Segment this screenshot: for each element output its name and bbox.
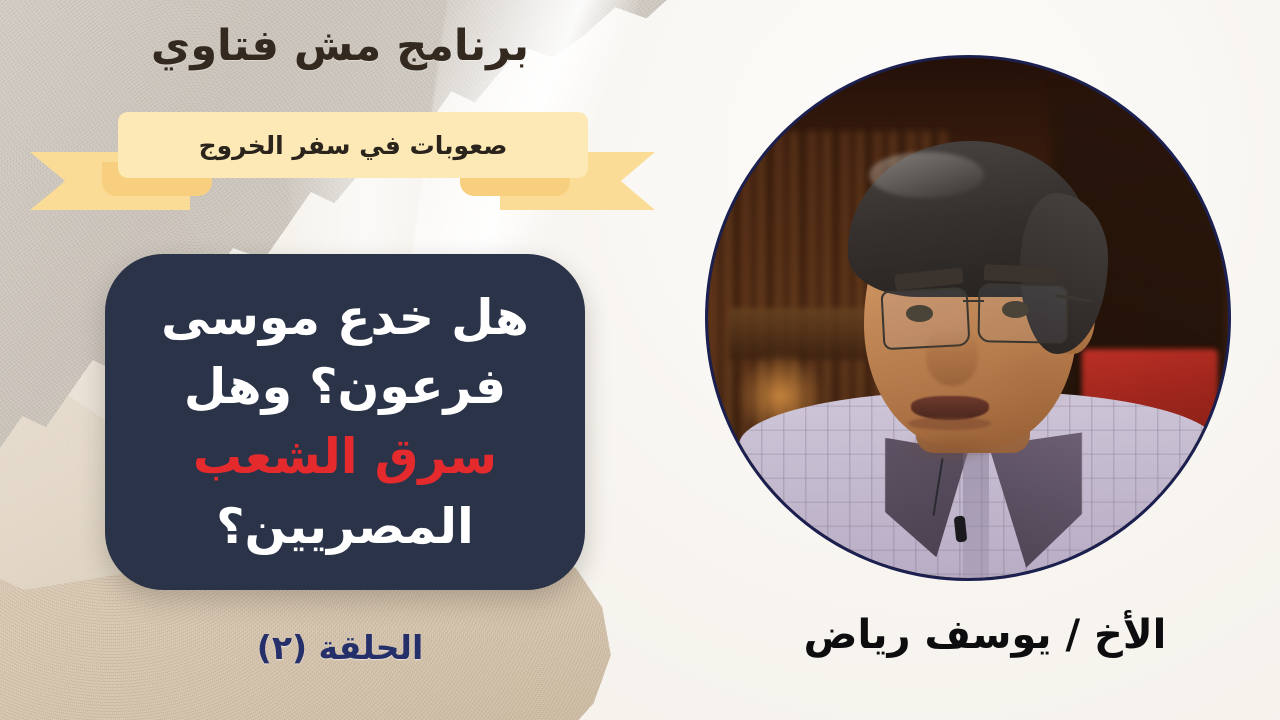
- ribbon-band: صعوبات في سفر الخروج: [118, 112, 588, 178]
- portrait-cheek-shadow: [994, 349, 1077, 411]
- show-title: برنامج مش فتاوي: [60, 22, 620, 71]
- question-segment-1: هل خدع موسى فرعون؟ وهل: [161, 289, 529, 416]
- question-text: هل خدع موسى فرعون؟ وهل سرق الشعب المصريي…: [127, 283, 563, 561]
- question-highlight-2: الشعب: [193, 428, 358, 485]
- portrait-eyeglass-bridge: [963, 300, 984, 303]
- question-segment-3: المصريين؟: [216, 498, 474, 555]
- portrait-nose: [926, 328, 978, 385]
- portrait-chin: [900, 432, 999, 463]
- thumbnail-canvas: برنامج مش فتاوي صعوبات في سفر الخروج هل …: [0, 0, 1280, 720]
- portrait-hair-grey-streak: [869, 152, 983, 199]
- portrait-eye-right: [1002, 301, 1029, 318]
- question-highlight-1: سرق: [375, 428, 497, 485]
- question-card: هل خدع موسى فرعون؟ وهل سرق الشعب المصريي…: [105, 254, 585, 590]
- question-segment-2: [358, 428, 375, 485]
- subtitle-ribbon: صعوبات في سفر الخروج: [30, 112, 650, 212]
- ribbon-subtitle-text: صعوبات في سفر الخروج: [199, 131, 508, 160]
- guest-portrait-circle: [705, 55, 1231, 581]
- guest-name-label: الأخ / يوسف رياض: [760, 612, 1210, 658]
- guest-portrait-image: [708, 58, 1228, 578]
- episode-label: الحلقة (٢): [150, 628, 530, 667]
- portrait-eye-left: [906, 305, 933, 322]
